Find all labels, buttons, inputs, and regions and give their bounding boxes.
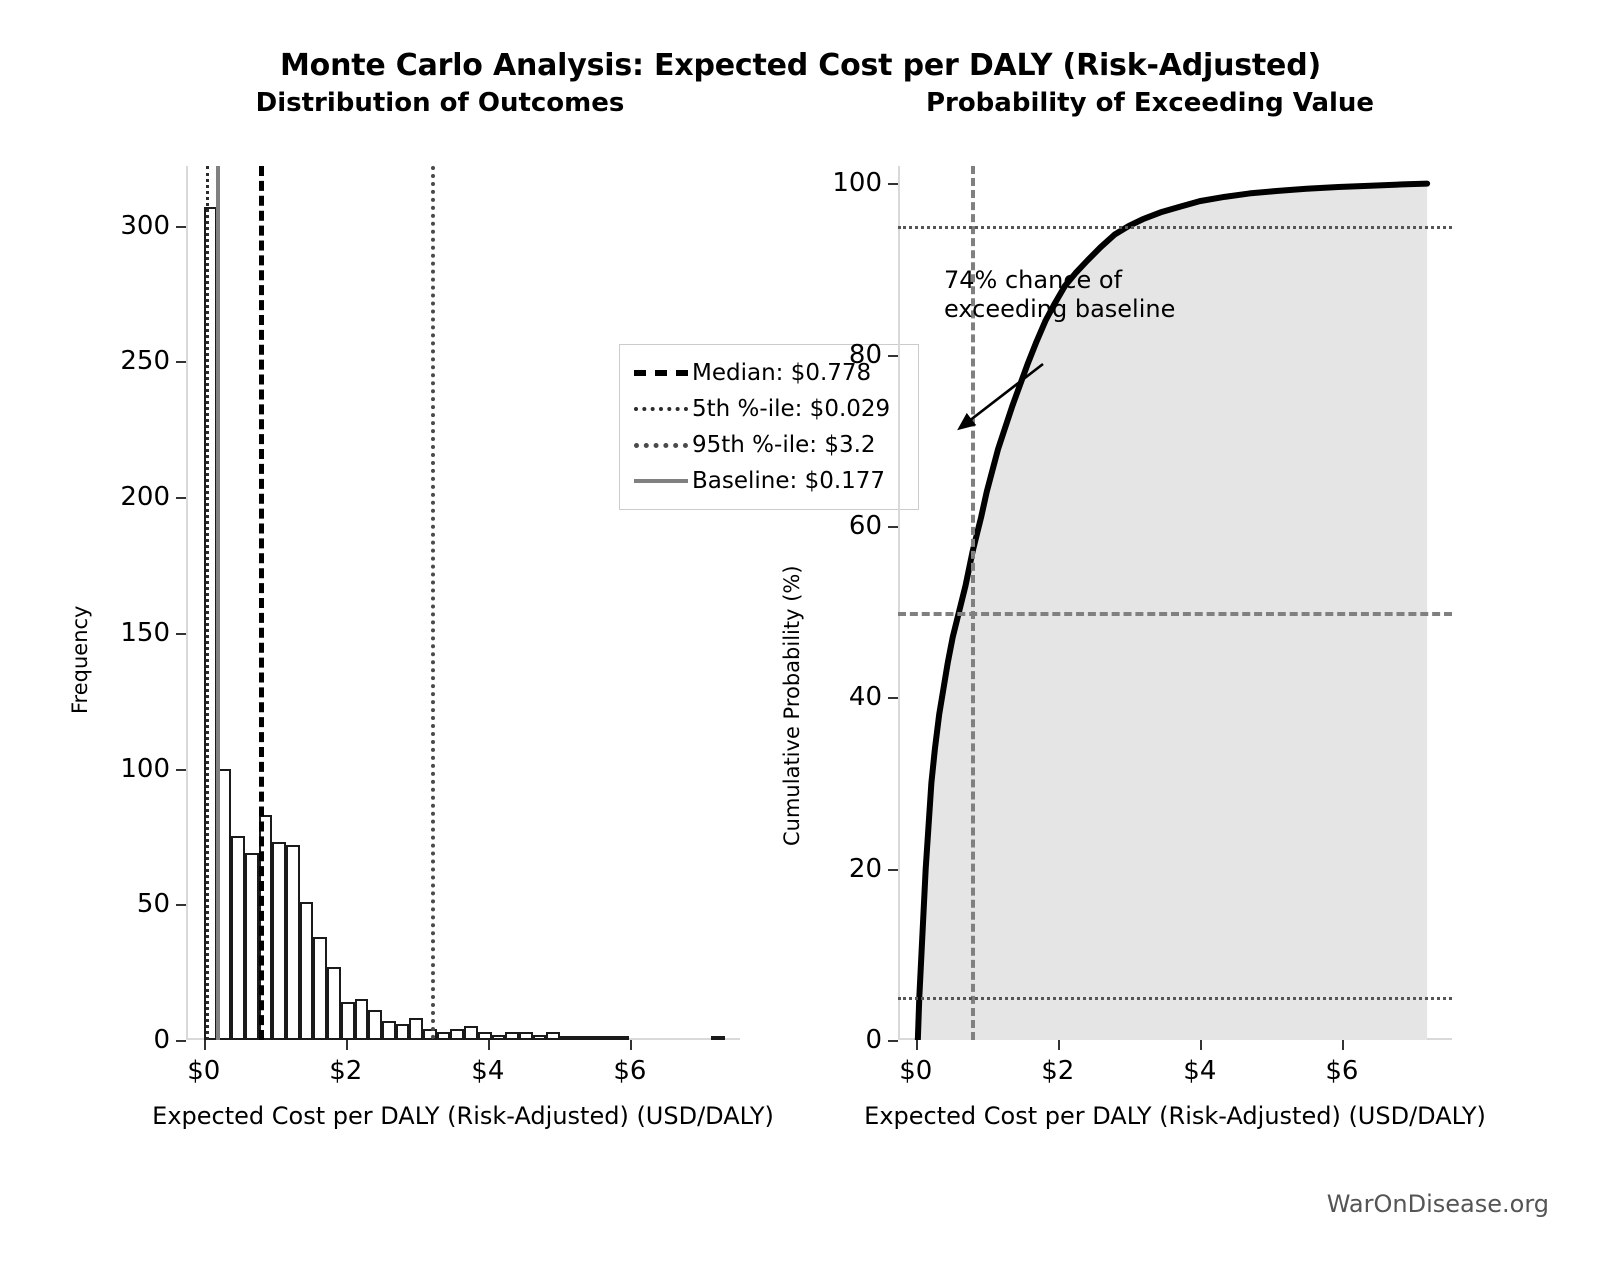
legend-swatch — [630, 479, 692, 483]
y-axis-tick-label: 0 — [865, 1025, 882, 1055]
histogram-bar — [574, 1036, 588, 1040]
y-axis-tick-label: 250 — [120, 346, 170, 376]
x-axis-tick — [630, 1040, 632, 1050]
histogram-bar — [272, 842, 286, 1040]
y-axis-tick-label: 150 — [120, 618, 170, 648]
histogram-marker-5th-ile — [206, 166, 209, 1040]
x-axis-tick — [204, 1040, 206, 1050]
x-axis-tick-label: $0 — [899, 1056, 932, 1086]
cdf-annotation-text: 74% chance of exceeding baseline — [944, 266, 1175, 325]
y-axis-tick — [888, 355, 898, 357]
cdf-refline-95th-percentile — [898, 226, 1452, 229]
left-panel-title: Distribution of Outcomes — [120, 88, 760, 118]
legend-swatch — [630, 443, 692, 448]
histogram-bar — [601, 1036, 615, 1040]
histogram-bar — [245, 853, 259, 1040]
y-axis-tick-label: 20 — [849, 854, 882, 884]
histogram-bar — [327, 967, 341, 1040]
y-axis-tick-label: 40 — [849, 682, 882, 712]
histogram-bar — [231, 836, 245, 1040]
legend-label: Median: $0.778 — [692, 360, 871, 386]
histogram-marker-95th-ile — [431, 166, 435, 1040]
histogram-y-axis-label: Frequency — [68, 606, 92, 715]
y-axis-tick — [888, 869, 898, 871]
histogram-bar — [382, 1021, 396, 1040]
y-axis-tick — [888, 697, 898, 699]
histogram-bar — [450, 1029, 464, 1040]
histogram-bar — [313, 937, 327, 1040]
left-axis-spine — [186, 166, 188, 1040]
y-axis-tick — [176, 226, 186, 228]
x-axis-tick — [346, 1040, 348, 1050]
x-axis-tick-label: $4 — [471, 1056, 504, 1086]
histogram-bar — [368, 1010, 382, 1040]
x-axis-tick-label: $2 — [1041, 1056, 1074, 1086]
site-watermark: WarOnDisease.org — [1327, 1190, 1549, 1218]
x-axis-tick — [1200, 1040, 1202, 1050]
histogram-bar — [711, 1036, 725, 1040]
histogram-bar — [478, 1032, 492, 1040]
figure-suptitle: Monte Carlo Analysis: Expected Cost per … — [0, 48, 1601, 83]
cdf-refline-5th-percentile — [898, 997, 1452, 1000]
y-axis-tick-label: 100 — [120, 754, 170, 784]
histogram-bar — [588, 1036, 602, 1040]
histogram-bar — [492, 1035, 506, 1040]
y-axis-tick-label: 60 — [849, 511, 882, 541]
legend-swatch — [630, 370, 692, 376]
x-axis-tick — [1058, 1040, 1060, 1050]
y-axis-tick — [176, 769, 186, 771]
x-axis-tick — [488, 1040, 490, 1050]
histogram-bar — [505, 1032, 519, 1040]
x-axis-tick — [916, 1040, 918, 1050]
histogram-marker-median — [259, 166, 264, 1040]
cdf-y-axis-label: Cumulative Probability (%) — [780, 565, 804, 846]
y-axis-tick-label: 200 — [120, 482, 170, 512]
cdf-axes: 74% chance of exceeding baseline 0204060… — [898, 166, 1452, 1040]
figure-canvas: Monte Carlo Analysis: Expected Cost per … — [0, 0, 1601, 1280]
y-axis-tick — [176, 361, 186, 363]
y-axis-tick-label: 50 — [137, 889, 170, 919]
y-axis-tick — [176, 633, 186, 635]
x-axis-tick-label: $0 — [187, 1056, 220, 1086]
y-axis-tick — [176, 1040, 186, 1042]
y-axis-tick — [176, 904, 186, 906]
histogram-bar — [533, 1035, 547, 1040]
histogram-bar — [300, 902, 314, 1040]
y-axis-tick-label: 0 — [153, 1025, 170, 1055]
y-axis-tick — [176, 497, 186, 499]
histogram-bar — [286, 845, 300, 1040]
y-axis-tick-label: 80 — [849, 340, 882, 370]
histogram-bar — [396, 1024, 410, 1040]
x-axis-tick — [1342, 1040, 1344, 1050]
y-axis-tick-label: 300 — [120, 211, 170, 241]
y-axis-tick-label: 100 — [832, 168, 882, 198]
legend-label: 95th %-ile: $3.2 — [692, 432, 876, 458]
legend-swatch — [630, 407, 692, 411]
x-axis-tick-label: $6 — [613, 1056, 646, 1086]
cdf-refline-median-probability — [898, 612, 1452, 616]
x-axis-tick-label: $2 — [329, 1056, 362, 1086]
histogram-x-axis-label: Expected Cost per DALY (Risk-Adjusted) (… — [152, 1102, 774, 1130]
legend-item: Baseline: $0.177 — [630, 463, 906, 499]
x-axis-tick-label: $4 — [1183, 1056, 1216, 1086]
legend-item: 95th %-ile: $3.2 — [630, 427, 906, 463]
cdf-x-axis-label: Expected Cost per DALY (Risk-Adjusted) (… — [864, 1102, 1486, 1130]
right-panel-title: Probability of Exceeding Value — [830, 88, 1470, 118]
histogram-bar — [437, 1032, 451, 1040]
x-axis-tick-label: $6 — [1325, 1056, 1358, 1086]
histogram-bar — [615, 1036, 629, 1040]
y-axis-tick — [888, 526, 898, 528]
y-axis-tick — [888, 1040, 898, 1042]
histogram-marker-baseline — [216, 166, 220, 1040]
legend-item: 5th %-ile: $0.029 — [630, 391, 906, 427]
histogram-axes: 050100150200250300 $0$2$4$6 Frequency Ex… — [186, 166, 740, 1040]
histogram-bar — [464, 1026, 478, 1040]
legend-label: 5th %-ile: $0.029 — [692, 396, 890, 422]
histogram-bar — [341, 1002, 355, 1040]
y-axis-tick — [888, 183, 898, 185]
histogram-bar — [355, 999, 369, 1040]
histogram-bar — [546, 1032, 560, 1040]
histogram-bar — [519, 1032, 533, 1040]
histogram-bar — [409, 1018, 423, 1040]
histogram-bar — [560, 1036, 574, 1040]
legend-label: Baseline: $0.177 — [692, 468, 885, 494]
